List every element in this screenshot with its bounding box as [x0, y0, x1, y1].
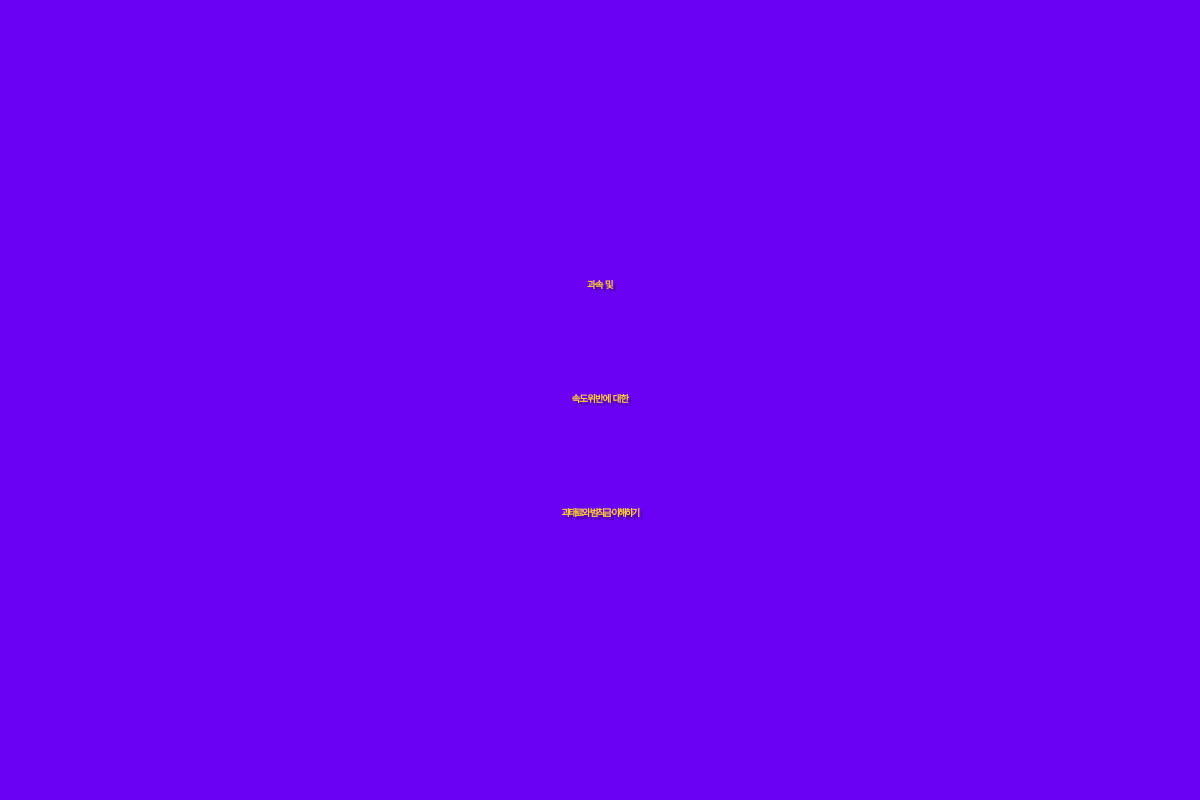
- headline-line-1: 과속 및: [0, 229, 1200, 343]
- banner-canvas: 과속 및 속도위반에 대한 과태료와 범칙금 이해하기: [0, 0, 1200, 800]
- headline-line-3: 과태료와 범칙금 이해하기: [0, 457, 1200, 571]
- headline-line-2: 속도위반에 대한: [0, 343, 1200, 457]
- headline-block: 과속 및 속도위반에 대한 과태료와 범칙금 이해하기: [0, 229, 1200, 571]
